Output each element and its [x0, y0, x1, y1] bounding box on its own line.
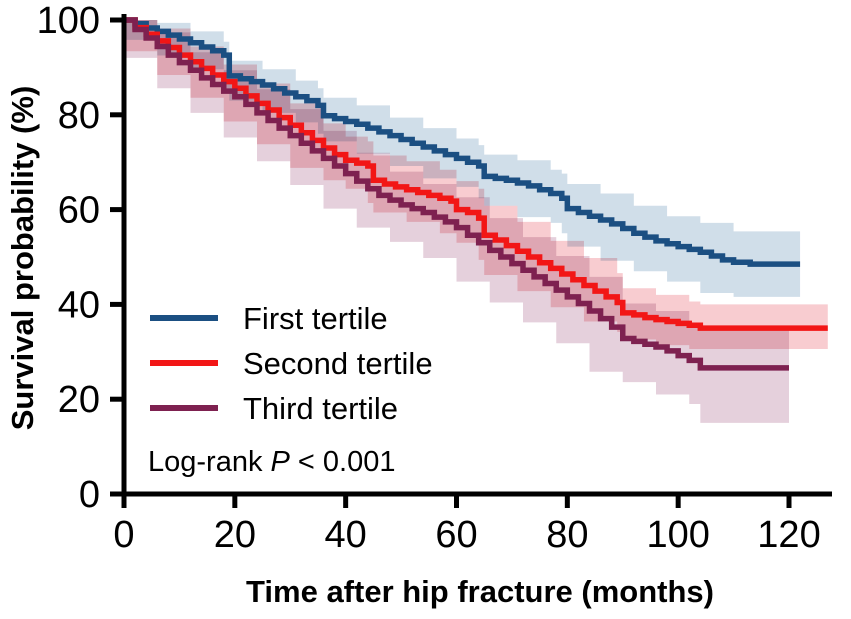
- legend-label-1: First tertile: [243, 301, 388, 336]
- x-tick-label-40: 40: [325, 514, 367, 556]
- y-tick-label-0: 0: [79, 474, 100, 516]
- legend-label-3: Third tertile: [243, 391, 398, 426]
- x-tick-label-60: 60: [435, 514, 477, 556]
- y-axis-title: Survival probability (%): [5, 86, 40, 431]
- y-tick-label-100: 100: [37, 0, 100, 42]
- y-tick-label-80: 80: [58, 95, 100, 137]
- y-tick-label-20: 20: [58, 379, 100, 421]
- x-tick-label-80: 80: [546, 514, 588, 556]
- survival-curve-figure: 020406080100120020406080100 Survival pro…: [0, 0, 851, 619]
- y-tick-label-60: 60: [58, 190, 100, 232]
- y-tick-label-40: 40: [58, 284, 100, 326]
- x-tick-label-100: 100: [646, 514, 709, 556]
- log-rank-p-annotation: Log-rank P < 0.001: [148, 446, 395, 478]
- x-tick-label-120: 120: [757, 514, 820, 556]
- x-axis-title: Time after hip fracture (months): [246, 574, 714, 609]
- legend-label-2: Second tertile: [243, 346, 433, 381]
- x-tick-label-0: 0: [113, 514, 134, 556]
- x-tick-label-20: 20: [214, 514, 256, 556]
- kaplan-meier-chart: 020406080100120020406080100 Survival pro…: [0, 0, 851, 619]
- chart-legend: First tertileSecond tertileThird tertile: [150, 301, 433, 426]
